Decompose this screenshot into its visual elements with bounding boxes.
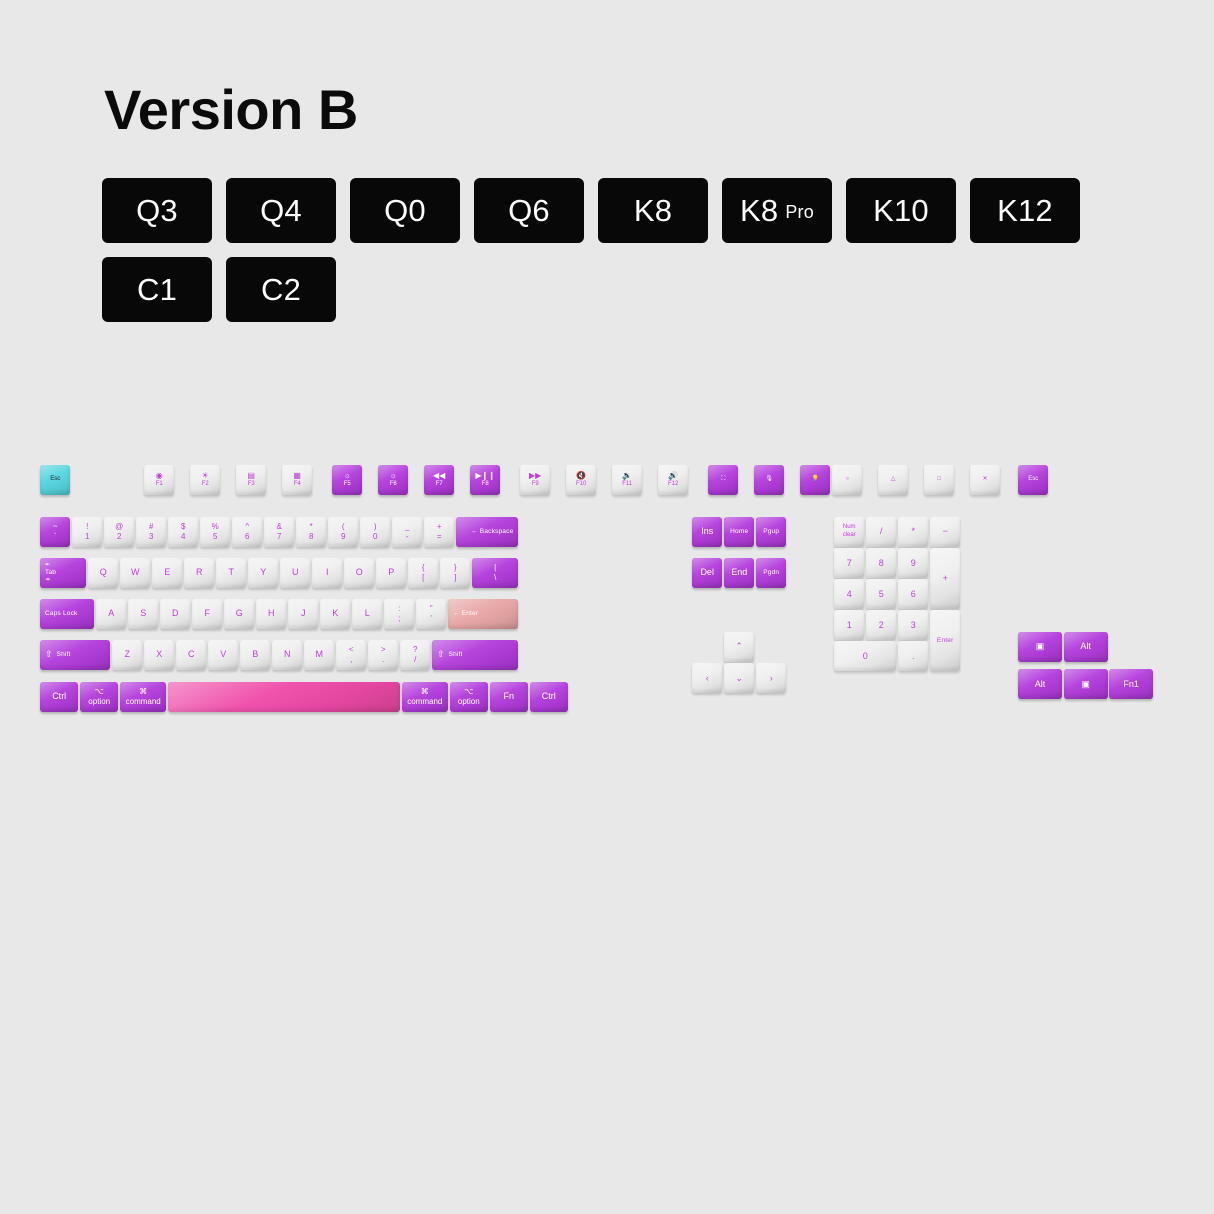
keycap-legend-bottom: option (80, 697, 118, 706)
page-title: Version B (104, 82, 358, 138)
keycap-num3[interactable]: 3 (898, 610, 928, 640)
keycap-h[interactable]: H (256, 599, 286, 629)
keycap-legend-top: % (200, 522, 230, 531)
keycap-legend: Enter (937, 637, 954, 645)
keycap-numenter[interactable]: Enter (930, 610, 960, 671)
keycap-f11[interactable]: 🔉F11 (612, 465, 642, 495)
keycap-j[interactable]: J (288, 599, 318, 629)
keycap-lcommand[interactable]: ⌘command (120, 682, 166, 712)
keycap-legend-top: 🔇 (566, 471, 596, 480)
keycap-legend: Q (88, 567, 118, 578)
keycap-num6[interactable]: 6 (898, 579, 928, 609)
keycap-3[interactable]: #3 (136, 517, 166, 547)
badge-label: Q3 (136, 193, 178, 229)
keycap-legend: J (288, 608, 318, 619)
keycap-legend-bottom: 1 (72, 532, 102, 541)
keycap-num5[interactable]: 5 (866, 579, 896, 609)
keycap-legend-bottom: ' (416, 614, 446, 623)
keycap-legend-bottom: 💡 (800, 476, 830, 483)
keycap-legend-top: ▶❙❙ (470, 471, 500, 480)
keycap-period[interactable]: >. (368, 640, 398, 670)
keycap-legend: Tab (45, 569, 56, 577)
keycap-esc2[interactable]: Esc (1018, 465, 1048, 495)
keycap-legend-top: ▶▶ (520, 471, 550, 480)
keycap-legend: 2 (866, 620, 896, 631)
keycap-legend-bottom: ] (440, 573, 470, 582)
badge-label: Q4 (260, 193, 302, 229)
keycap-legend-top: @ (104, 522, 134, 531)
keycap-legend: Y (248, 567, 278, 578)
keycap-legend: ← Backspace (471, 528, 513, 536)
keycap-b[interactable]: B (240, 640, 270, 670)
keycap-legend-bottom: △ (878, 476, 908, 483)
keycap-legend-bottom: F4 (282, 481, 312, 488)
keycap-legend-top: $ (168, 522, 198, 531)
keycap-legend: F (192, 608, 222, 619)
keycap-legend-top: ◉ (144, 471, 174, 480)
keycap-legend-top: & (264, 522, 294, 531)
keycap-legend-bottom: 6 (232, 532, 262, 541)
keycap-r[interactable]: R (184, 558, 214, 588)
keycap-triangle[interactable]: △ (878, 465, 908, 495)
keycap-legend-top: { (408, 563, 438, 572)
keycap-win1[interactable]: ▣ (1018, 632, 1062, 662)
keycap-legend: P (376, 567, 406, 578)
keycap-legend: ▣ (1018, 641, 1062, 652)
compat-badge-q3: Q3 (102, 178, 212, 243)
keycap-enter[interactable]: ← Enter (448, 599, 518, 629)
keycap-home[interactable]: Home (724, 517, 754, 547)
compat-badge-k8-pro: K8Pro (722, 178, 832, 243)
keycap-5[interactable]: %5 (200, 517, 230, 547)
keycap-lctrl[interactable]: Ctrl (40, 682, 78, 712)
keycap-legend: S (128, 608, 158, 619)
keycap-quote[interactable]: "' (416, 599, 446, 629)
keycap-f[interactable]: F (192, 599, 222, 629)
keycap-legend-top: ☼ (332, 471, 362, 480)
keycap-legend: Shift (57, 651, 71, 659)
keycap-legend: 6 (898, 589, 928, 600)
keycap-legend-top: > (368, 645, 398, 654)
keycap-legend: 9 (898, 558, 928, 569)
keycap-roption[interactable]: ⌥option (450, 682, 488, 712)
keycap-multiply[interactable]: * (898, 517, 928, 547)
keycap-pgdn[interactable]: Pgdn (756, 558, 786, 588)
keycap-legend: › (756, 673, 786, 684)
keycap-f2[interactable]: ☀F2 (190, 465, 220, 495)
keycap-alt2[interactable]: Alt (1018, 669, 1062, 699)
keycap-legend: I (312, 567, 342, 578)
badge-label: K10 (873, 193, 929, 229)
keycap-num9[interactable]: 9 (898, 548, 928, 578)
compat-badge-q4: Q4 (226, 178, 336, 243)
keycap-legend-top: ⌘ (120, 687, 166, 696)
keycap-legend-top: ? (400, 645, 430, 654)
keycap-2[interactable]: @2 (104, 517, 134, 547)
keycap-i[interactable]: I (312, 558, 342, 588)
keycap-slash[interactable]: ?/ (400, 640, 430, 670)
keycap-f1[interactable]: ◉F1 (144, 465, 174, 495)
keycap-legend: H (256, 608, 286, 619)
keycap-legend: 3 (898, 620, 928, 631)
keycap-legend: D (160, 608, 190, 619)
keycap-w[interactable]: W (120, 558, 150, 588)
keycap-rcommand[interactable]: ⌘command (402, 682, 448, 712)
keycap-f10[interactable]: 🔇F10 (566, 465, 596, 495)
keycap-0[interactable]: )0 (360, 517, 390, 547)
keycap-legend-bottom: \ (472, 573, 518, 582)
keycap-legend-top: } (440, 563, 470, 572)
keycap-legend-bottom: = (424, 532, 454, 541)
keycap-legend-top: ▦ (282, 471, 312, 480)
keycap-legend-top: ☀ (190, 471, 220, 480)
shift-arrow-icon: ⇧ (437, 649, 445, 660)
keycap-d[interactable]: D (160, 599, 190, 629)
keycap-legend: G (224, 608, 254, 619)
keycap-fn[interactable]: Fn (490, 682, 528, 712)
keycap-legend-top: ☼ (378, 471, 408, 480)
keycap-legend-bottom: 9 (328, 532, 358, 541)
keycap-f12[interactable]: 🔊F12 (658, 465, 688, 495)
keycap-legend-bottom: F7 (424, 481, 454, 488)
keycap-loption[interactable]: ⌥option (80, 682, 118, 712)
keycap-legend: Caps Lock (45, 610, 78, 618)
keycap-z[interactable]: Z (112, 640, 142, 670)
keycap-legend: ← Enter (453, 610, 478, 618)
badge-label: K8 (740, 193, 778, 229)
keycap-legend-bottom: . (368, 655, 398, 664)
keycap-end[interactable]: End (724, 558, 754, 588)
keycap-up[interactable]: ⌃ (724, 632, 754, 662)
keycap-legend: Pgdn (763, 569, 779, 577)
keycap-legend: ⌄ (724, 673, 754, 684)
keycap-legend-bottom: ✕ (970, 476, 1000, 483)
keycap-legend: 8 (866, 558, 896, 569)
keycap-legend: K (320, 608, 350, 619)
keycap-pgup[interactable]: Pgup (756, 517, 786, 547)
keycap-legend: ⌃ (724, 641, 754, 652)
keycap-legend-bottom: ○ (832, 476, 862, 483)
keycap-legend-bottom: 4 (168, 532, 198, 541)
keycap-num8[interactable]: 8 (866, 548, 896, 578)
compat-badge-k8: K8 (598, 178, 708, 243)
badge-label: K12 (997, 193, 1053, 229)
keycap-legend-bottom: 7 (264, 532, 294, 541)
keycap-num0[interactable]: 0 (834, 641, 896, 671)
keycap-g[interactable]: G (224, 599, 254, 629)
keycap-legend-bottom: command (120, 697, 166, 706)
keycap-t[interactable]: T (216, 558, 246, 588)
keycap-alt1[interactable]: Alt (1064, 632, 1108, 662)
keycap-f4[interactable]: ▦F4 (282, 465, 312, 495)
keycap-num2[interactable]: 2 (866, 610, 896, 640)
keycap-legend-bottom: F11 (612, 481, 642, 488)
keycap-u[interactable]: U (280, 558, 310, 588)
keycap-legend-top: < (336, 645, 366, 654)
keycap-right[interactable]: › (756, 663, 786, 693)
keycap-legend-top: ▤ (236, 471, 266, 480)
keycap-c[interactable]: C (176, 640, 206, 670)
keycap-legend: V (208, 649, 238, 660)
keycap-e[interactable]: E (152, 558, 182, 588)
keycap-space[interactable] (168, 682, 400, 712)
keycap-legend-bottom: F1 (144, 481, 174, 488)
keycap-legend-bottom: Esc (1018, 476, 1048, 483)
keycap-legend-bottom: Esc (40, 476, 70, 483)
keycap-k[interactable]: K (320, 599, 350, 629)
keycap-numdot[interactable]: . (898, 641, 928, 671)
keycap-legend: * (898, 526, 928, 537)
keycap-f6[interactable]: ☼F6 (378, 465, 408, 495)
keycap-legend-bottom: ` (40, 532, 70, 541)
keycap-legend-top: 🔉 (612, 471, 642, 480)
keycap-legend-top: ⌘ (402, 687, 448, 696)
keycap-f8[interactable]: ▶❙❙F8 (470, 465, 500, 495)
keycap-f5[interactable]: ☼F5 (332, 465, 362, 495)
keycap-legend: − (930, 526, 960, 537)
keycap-backspace[interactable]: ← Backspace (456, 517, 518, 547)
keycap-subtract[interactable]: − (930, 517, 960, 547)
keycap-numlock[interactable]: Numclear (834, 517, 864, 547)
keycap-capslock[interactable]: Caps Lock (40, 599, 94, 629)
keycap-down[interactable]: ⌄ (724, 663, 754, 693)
keycap-legend-bottom: 3 (136, 532, 166, 541)
keycap-legend: Home (730, 528, 748, 536)
keycap-legend-bottom: 8 (296, 532, 326, 541)
keycap-legend-bottom: command (402, 697, 448, 706)
keycap-legend: O (344, 567, 374, 578)
keycap-legend: Z (112, 649, 142, 660)
keycap-legend: ‹ (692, 673, 722, 684)
keycap-legend-bottom: 🎙 (754, 476, 784, 483)
keycap-legend-top: ⌥ (450, 687, 488, 696)
keycap-f7[interactable]: ◀◀F7 (424, 465, 454, 495)
keycap-equal[interactable]: += (424, 517, 454, 547)
keycap-x[interactable]: X (144, 640, 174, 670)
compat-badge-c2: C2 (226, 257, 336, 322)
keycap-legend: Ins (692, 526, 722, 537)
badge-label: K8 (634, 193, 672, 229)
keycap-legend: A (96, 608, 126, 619)
keycap-legend-top: + (424, 522, 454, 531)
badge-label: C2 (261, 272, 301, 308)
keycap-legend-bottom: F5 (332, 481, 362, 488)
keycap-legend-top: ! (72, 522, 102, 531)
keycap-lbracket[interactable]: {[ (408, 558, 438, 588)
keycap-legend-top: Num (834, 524, 864, 531)
keycap-legend-bottom: clear (834, 532, 864, 539)
keycap-circle[interactable]: ○ (832, 465, 862, 495)
keycap-l[interactable]: L (352, 599, 382, 629)
tab-arrow-left-icon: ↞ (45, 562, 50, 569)
keycap-a[interactable]: A (96, 599, 126, 629)
keycap-legend: Shift (449, 651, 463, 659)
keycap-legend-bottom: F9 (520, 481, 550, 488)
keycap-legend: U (280, 567, 310, 578)
keycap-legend: 5 (866, 589, 896, 600)
keycap-legend-top: _ (392, 522, 422, 531)
keycap-minus[interactable]: _- (392, 517, 422, 547)
keycap-n[interactable]: N (272, 640, 302, 670)
keycap-legend-bottom: □ (924, 476, 954, 483)
keycap-legend: N (272, 649, 302, 660)
keycap-legend: Alt (1064, 641, 1108, 652)
keycap-legend-bottom: F10 (566, 481, 596, 488)
keycap-legend: X (144, 649, 174, 660)
keycap-legend: Del (692, 567, 722, 578)
keycap-win2[interactable]: ▣ (1064, 669, 1108, 699)
keycap-f9[interactable]: ▶▶F9 (520, 465, 550, 495)
keycap-legend-top: ( (328, 522, 358, 531)
keycap-legend-bottom: F8 (470, 481, 500, 488)
keycap-legend-bottom: 0 (360, 532, 390, 541)
compat-badge-k12: K12 (970, 178, 1080, 243)
keycap-square[interactable]: □ (924, 465, 954, 495)
keycap-legend-bottom: / (400, 655, 430, 664)
keycap-num1[interactable]: 1 (834, 610, 864, 640)
keycap-legend-top: ~ (40, 522, 70, 531)
keycap-y[interactable]: Y (248, 558, 278, 588)
badge-label: C1 (137, 272, 177, 308)
keycap-legend-bottom: [ (408, 573, 438, 582)
keycap-legend-top: # (136, 522, 166, 531)
compat-badge-q6: Q6 (474, 178, 584, 243)
keycap-p[interactable]: P (376, 558, 406, 588)
keycap-o[interactable]: O (344, 558, 374, 588)
keycap-f3[interactable]: ▤F3 (236, 465, 266, 495)
keycap-6[interactable]: ^6 (232, 517, 262, 547)
keycap-legend: ▣ (1064, 679, 1108, 690)
keycap-esc[interactable]: Esc (40, 465, 70, 495)
keycap-legend-top: : (384, 604, 414, 613)
keycap-semicolon[interactable]: :; (384, 599, 414, 629)
keycap-legend-bottom: , (336, 655, 366, 664)
keycap-9[interactable]: (9 (328, 517, 358, 547)
keycap-legend-top: ⌥ (80, 687, 118, 696)
compatibility-badge-list: Q3Q4Q0Q6K8K8ProK10K12C1C2 (102, 178, 1112, 322)
keycap-legend: 7 (834, 558, 864, 569)
keycap-legend-bottom: ; (384, 614, 414, 623)
keycap-legend-bottom: - (392, 532, 422, 541)
keycap-legend-bottom: F12 (658, 481, 688, 488)
compat-badge-k10: K10 (846, 178, 956, 243)
keycap-legend: Fn (490, 691, 528, 702)
keycap-8[interactable]: *8 (296, 517, 326, 547)
keycap-num4[interactable]: 4 (834, 579, 864, 609)
keycap-legend-bottom: 2 (104, 532, 134, 541)
keycap-legend: 0 (834, 651, 896, 662)
keycap-mic[interactable]: 🎙 (754, 465, 784, 495)
keycap-legend-top: | (472, 563, 518, 572)
keycap-add[interactable]: + (930, 548, 960, 609)
keycap-rctrl[interactable]: Ctrl (530, 682, 568, 712)
keycap-legend: / (866, 526, 896, 537)
keycap-rshift[interactable]: ⇧Shift (432, 640, 518, 670)
keycap-legend: L (352, 608, 382, 619)
keycap-legend: Ctrl (40, 691, 78, 702)
keycap-legend: C (176, 649, 206, 660)
keycap-comma[interactable]: <, (336, 640, 366, 670)
keycap-legend: 1 (834, 620, 864, 631)
compat-badge-q0: Q0 (350, 178, 460, 243)
keycap-legend-top: ^ (232, 522, 262, 531)
badge-label: Q6 (508, 193, 550, 229)
keycap-rbracket[interactable]: }] (440, 558, 470, 588)
keycap-legend: End (724, 567, 754, 578)
keycap-7[interactable]: &7 (264, 517, 294, 547)
keycap-legend: Ctrl (530, 691, 568, 702)
keycap-s[interactable]: S (128, 599, 158, 629)
keycap-legend-bottom: F3 (236, 481, 266, 488)
badge-label: Q0 (384, 193, 426, 229)
keycap-tilde[interactable]: ~` (40, 517, 70, 547)
keycap-left[interactable]: ‹ (692, 663, 722, 693)
keycap-legend: Alt (1018, 679, 1062, 690)
keycap-m[interactable]: M (304, 640, 334, 670)
keycap-legend-top: ) (360, 522, 390, 531)
keycap-legend: Pgup (763, 528, 779, 536)
keycap-legend: . (898, 651, 928, 662)
keycap-v[interactable]: V (208, 640, 238, 670)
badge-suffix: Pro (785, 202, 814, 223)
keycap-legend-top: " (416, 604, 446, 613)
keycap-bulb[interactable]: 💡 (800, 465, 830, 495)
keycap-legend-bottom: ⛶ (708, 476, 738, 483)
shift-arrow-icon: ⇧ (45, 649, 53, 660)
keycap-legend-bottom: F6 (378, 481, 408, 488)
keycap-backslash[interactable]: |\ (472, 558, 518, 588)
keycap-legend: B (240, 649, 270, 660)
keycap-legend-top: * (296, 522, 326, 531)
keycap-legend: E (152, 567, 182, 578)
keycap-legend-bottom: F2 (190, 481, 220, 488)
keycap-lshift[interactable]: ⇧Shift (40, 640, 110, 670)
compat-badge-c1: C1 (102, 257, 212, 322)
keycap-legend: M (304, 649, 334, 660)
keycap-cross[interactable]: ✕ (970, 465, 1000, 495)
keycap-set-keyboard-render: Esc◉F1☀F2▤F3▦F4☼F5☼F6◀◀F7▶❙❙F8▶▶F9🔇F10🔉F… (40, 460, 1180, 740)
keycap-legend: + (930, 573, 960, 584)
keycap-del[interactable]: Del (692, 558, 722, 588)
keycap-legend: T (216, 567, 246, 578)
keycap-legend-bottom: option (450, 697, 488, 706)
keycap-legend: Fn1 (1109, 679, 1153, 690)
keycap-legend-top: 🔊 (658, 471, 688, 480)
keycap-snip[interactable]: ⛶ (708, 465, 738, 495)
keycap-legend-top: ◀◀ (424, 471, 454, 480)
keycap-legend: W (120, 567, 150, 578)
keycap-ins[interactable]: Ins (692, 517, 722, 547)
keycap-legend: R (184, 567, 214, 578)
keycap-q[interactable]: Q (88, 558, 118, 588)
keycap-num7[interactable]: 7 (834, 548, 864, 578)
keycap-legend-bottom: 5 (200, 532, 230, 541)
keycap-tab[interactable]: ↞Tab↠ (40, 558, 86, 588)
keycap-4[interactable]: $4 (168, 517, 198, 547)
keycap-legend: 4 (834, 589, 864, 600)
keycap-fn1[interactable]: Fn1 (1109, 669, 1153, 699)
keycap-divide[interactable]: / (866, 517, 896, 547)
keycap-1[interactable]: !1 (72, 517, 102, 547)
tab-arrow-right-icon: ↠ (45, 577, 50, 584)
